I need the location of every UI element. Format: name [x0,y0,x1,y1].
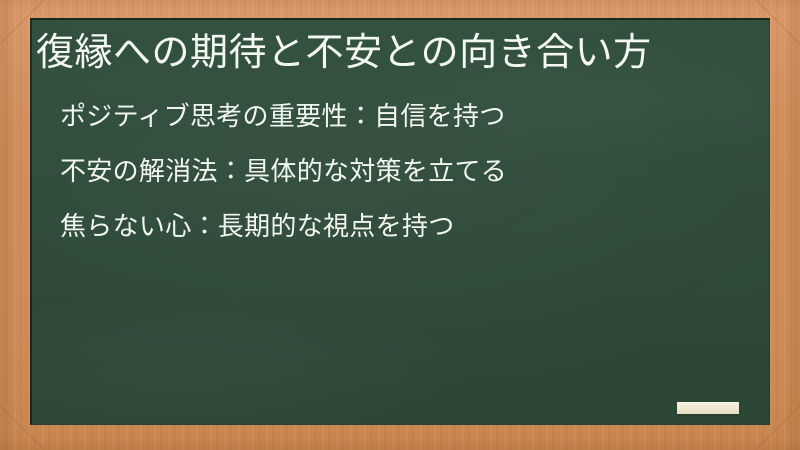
bullet-list: ポジティブ思考の重要性：自信を持つ 不安の解消法：具体的な対策を立てる 焦らない… [60,104,740,269]
bullet-item: 焦らない心：長期的な視点を持つ [60,214,740,240]
chalkboard-surface: 復縁への期待と不安との向き合い方 ポジティブ思考の重要性：自信を持つ 不安の解消… [30,18,770,425]
chalk-eraser-icon [677,402,739,414]
slide-title: 復縁への期待と不安との向き合い方 [36,30,752,75]
chalkboard-frame: 復縁への期待と不安との向き合い方 ポジティブ思考の重要性：自信を持つ 不安の解消… [0,0,800,450]
bullet-item: 不安の解消法：具体的な対策を立てる [60,159,740,185]
bullet-item: ポジティブ思考の重要性：自信を持つ [60,104,740,130]
